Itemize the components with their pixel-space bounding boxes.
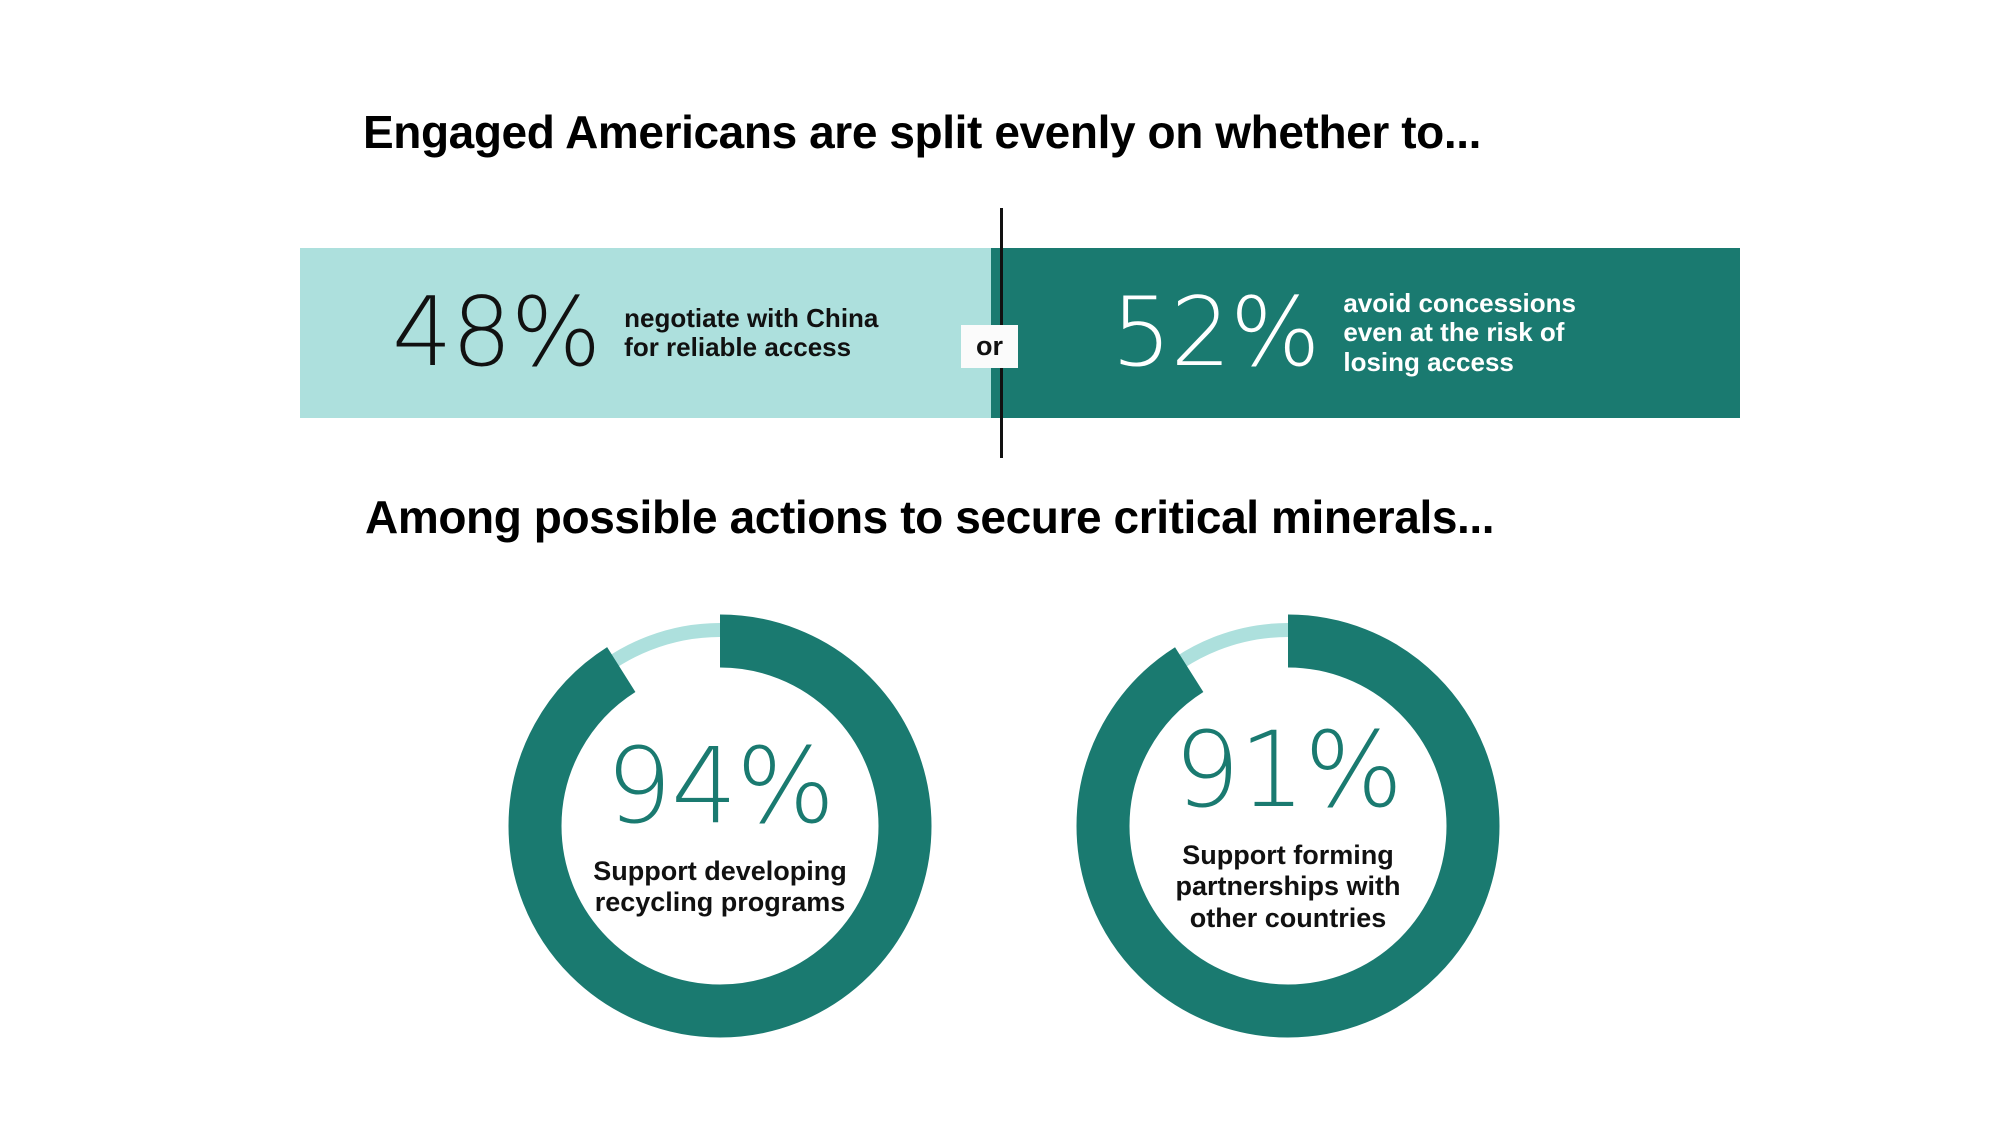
split-bar-right-content: 52% avoid concessions even at the risk o… [991, 288, 1576, 378]
split-bar-left-description: negotiate with China for reliable access [624, 304, 878, 362]
split-bar-left-content: 48% negotiate with China for reliable ac… [300, 288, 878, 378]
donut-label-partnerships: Support forming partnerships with other … [1175, 840, 1400, 933]
donut-chart-recycling[interactable]: 94% Support developing recycling program… [490, 596, 950, 1056]
donut-label-recycling: Support developing recycling programs [593, 856, 847, 918]
split-bar: 48% negotiate with China for reliable ac… [300, 248, 1740, 418]
split-bar-segment-right[interactable]: 52% avoid concessions even at the risk o… [991, 248, 1740, 418]
headline-primary: Engaged Americans are split evenly on wh… [363, 105, 1481, 159]
donut-percent-recycling: 94% [606, 734, 834, 838]
split-bar-right-description: avoid concessions even at the risk of lo… [1343, 289, 1576, 376]
headline-secondary: Among possible actions to secure critica… [365, 490, 1494, 544]
donut-center-partnerships: 91% Support forming partnerships with ot… [1058, 596, 1518, 1056]
donut-chart-partnerships[interactable]: 91% Support forming partnerships with ot… [1058, 596, 1518, 1056]
donut-chart-group: 94% Support developing recycling program… [0, 596, 2000, 1056]
split-bar-segment-left[interactable]: 48% negotiate with China for reliable ac… [300, 248, 991, 418]
split-bar-or-label: or [961, 325, 1018, 368]
split-bar-right-percent: 52% [1111, 288, 1319, 378]
split-bar-chart: 48% negotiate with China for reliable ac… [300, 248, 1740, 418]
donut-percent-partnerships: 91% [1174, 718, 1402, 822]
donut-center-recycling: 94% Support developing recycling program… [490, 596, 950, 1056]
split-bar-left-percent: 48% [392, 288, 600, 378]
infographic-stage: Engaged Americans are split evenly on wh… [0, 0, 2000, 1125]
